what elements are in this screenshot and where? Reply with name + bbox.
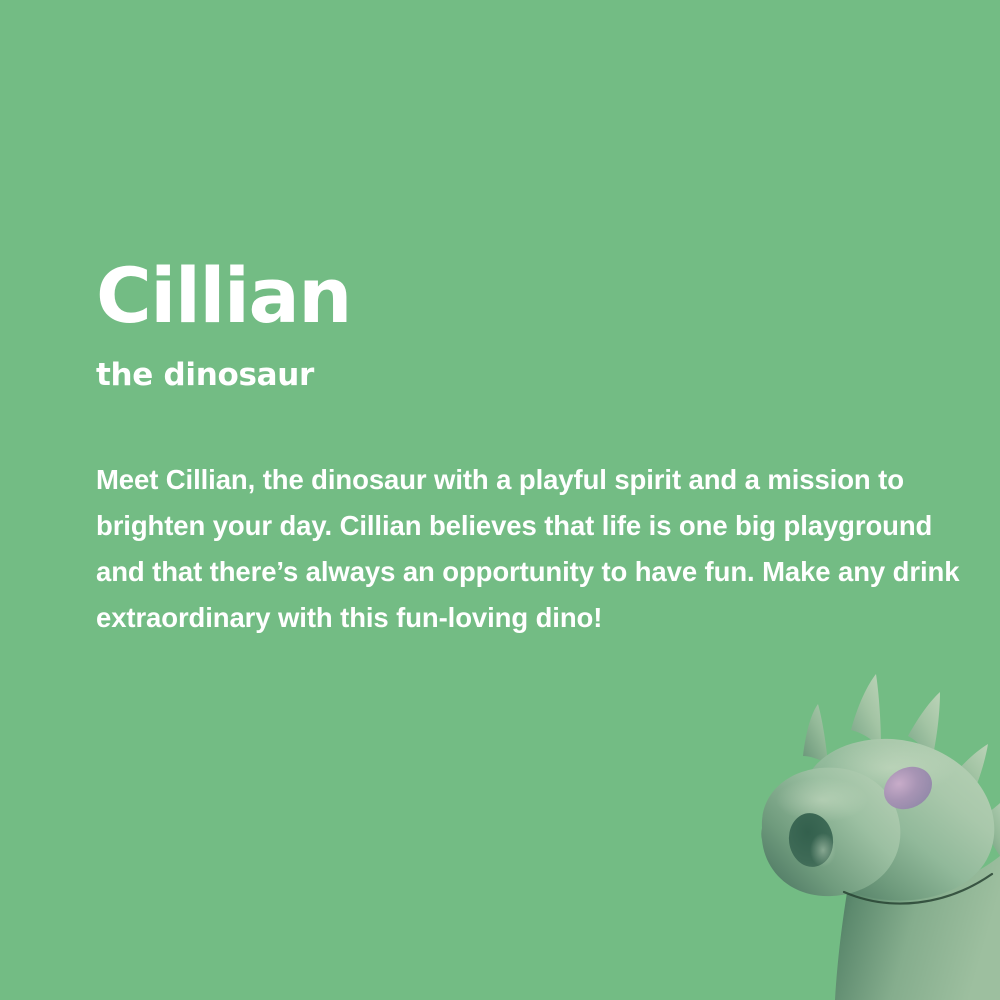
character-card: Cillian the dinosaur Meet Cillian, the d… bbox=[0, 0, 1000, 1000]
character-name: Cillian bbox=[96, 258, 976, 334]
dinosaur-snout bbox=[761, 768, 900, 897]
character-text-block: Cillian the dinosaur Meet Cillian, the d… bbox=[96, 258, 976, 641]
dinosaur-illustration bbox=[740, 660, 1000, 1000]
dinosaur-seam-line bbox=[844, 874, 992, 904]
dinosaur-nostril bbox=[785, 810, 836, 870]
dinosaur-spikes bbox=[803, 674, 1000, 856]
dinosaur-head bbox=[796, 739, 995, 901]
character-description: Meet Cillian, the dinosaur with a playfu… bbox=[96, 457, 971, 641]
dinosaur-neck bbox=[835, 856, 1000, 1000]
character-role: the dinosaur bbox=[96, 360, 976, 391]
dinosaur-eye bbox=[877, 759, 940, 818]
